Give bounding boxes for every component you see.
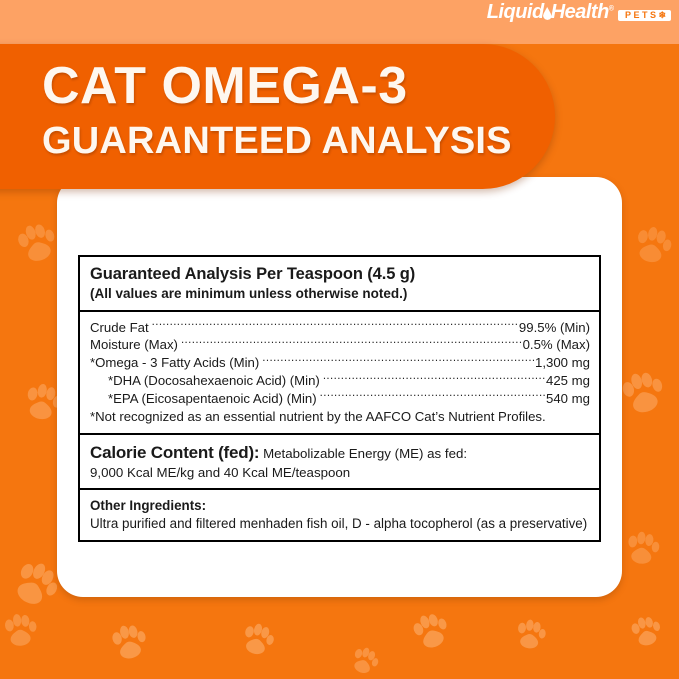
brand-wordmark: LiquidHealth® [487, 2, 614, 22]
analysis-row-value: 99.5% (Min) [519, 319, 590, 337]
analysis-row: *Omega - 3 Fatty Acids (Min)1,300 mg [90, 354, 590, 372]
paw-print-icon [626, 221, 678, 273]
product-label-graphic: LiquidHealth® PETS❄ CAT OMEGA-3 GUARANTE… [0, 0, 679, 679]
paw-glyph-icon: ❄ [658, 10, 666, 20]
calorie-content-section: Calorie Content (fed): Metabolizable Ene… [80, 433, 599, 488]
analysis-row-label: *DHA (Docosahexaenoic Acid) (Min) [108, 372, 320, 390]
analysis-header-section: Guaranteed Analysis Per Teaspoon (4.5 g)… [80, 257, 599, 310]
calorie-content-line: Calorie Content (fed): Metabolizable Ene… [90, 442, 590, 464]
paw-print-icon [404, 606, 458, 660]
analysis-row-label: *EPA (Eicosapentaenoic Acid) (Min) [108, 390, 317, 408]
dot-leader [181, 336, 522, 349]
dot-leader [320, 389, 545, 402]
analysis-row: Crude Fat 99.5% (Min) [90, 319, 590, 337]
analysis-note: (All values are minimum unless otherwise… [90, 286, 590, 303]
calorie-content-heading: Calorie Content (fed): [90, 443, 259, 462]
guaranteed-analysis-panel: Guaranteed Analysis Per Teaspoon (4.5 g)… [78, 255, 601, 542]
brand-logo: LiquidHealth® PETS❄ [487, 2, 671, 22]
brand-pets-label: PETS [625, 10, 659, 20]
brand-pets-badge: PETS❄ [618, 10, 671, 21]
paw-print-icon [104, 619, 154, 669]
analysis-row-value: 0.5% (Max) [523, 336, 590, 354]
analysis-row-value: 540 mg [546, 390, 590, 408]
other-ingredients-section: Other Ingredients: Ultra purified and fi… [80, 488, 599, 540]
analysis-row-label: Crude Fat [90, 319, 149, 337]
analysis-row: Moisture (Max)0.5% (Max) [90, 336, 590, 354]
calorie-content-detail: 9,000 Kcal ME/kg and 40 Kcal ME/teaspoon [90, 464, 590, 481]
calorie-content-heading-tail: Metabolizable Energy (ME) as fed: [259, 446, 467, 461]
analysis-row-value: 1,300 mg [535, 354, 590, 372]
title-banner: CAT OMEGA-3 GUARANTEED ANALYSIS [0, 44, 555, 189]
other-ingredients-heading: Other Ingredients: [90, 497, 590, 514]
dot-leader [262, 354, 534, 367]
analysis-title: Guaranteed Analysis Per Teaspoon (4.5 g) [90, 264, 590, 285]
trademark-symbol: ® [609, 5, 614, 12]
paw-print-icon [510, 616, 551, 657]
analysis-row: *DHA (Docosahexaenoic Acid) (Min)425 mg [90, 372, 590, 390]
paw-print-icon [234, 618, 280, 664]
analysis-footnote: *Not recognized as an essential nutrient… [90, 408, 590, 426]
page-subtitle: GUARANTEED ANALYSIS [42, 122, 512, 160]
paw-print-icon [620, 528, 664, 572]
paw-print-icon [343, 641, 384, 679]
other-ingredients-body: Ultra purified and filtered menhaden fis… [90, 515, 590, 533]
brand-name-health: Health [551, 1, 609, 23]
dot-leader [323, 372, 545, 385]
brand-name-liquid: Liquid [487, 1, 544, 23]
dot-leader [152, 319, 518, 332]
analysis-row-value: 425 mg [546, 372, 590, 390]
paw-print-icon [624, 611, 668, 655]
analysis-rows-section: Crude Fat 99.5% (Min)Moisture (Max)0.5% … [80, 310, 599, 433]
analysis-row: *EPA (Eicosapentaenoic Acid) (Min)540 mg [90, 389, 590, 407]
page-title: CAT OMEGA-3 [42, 60, 408, 112]
paw-print-icon [0, 610, 42, 653]
analysis-row-label: Moisture (Max) [90, 336, 178, 354]
analysis-row-label: *Omega - 3 Fatty Acids (Min) [90, 354, 259, 372]
